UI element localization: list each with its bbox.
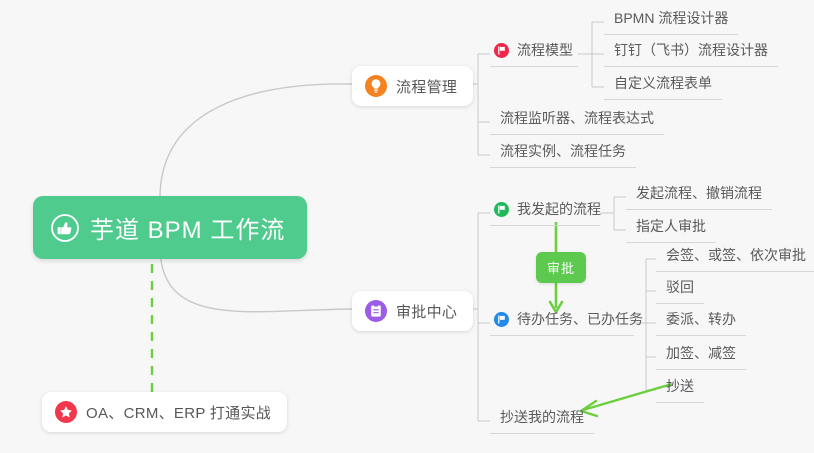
node-delegate-transfer[interactable]: 委派、转办 — [656, 310, 746, 336]
node-countersign[interactable]: 会签、或签、依次审批 — [656, 246, 814, 272]
branch-process-management[interactable]: 流程管理 — [352, 66, 473, 106]
star-icon — [55, 401, 77, 423]
node-process-instance[interactable]: 流程实例、流程任务 — [490, 142, 636, 168]
node-add-remove-sign[interactable]: 加签、减签 — [656, 344, 746, 370]
branch-label: 流程管理 — [396, 76, 457, 97]
node-process-listener[interactable]: 流程监听器、流程表达式 — [490, 109, 664, 135]
node-bpmn-designer[interactable]: BPMN 流程设计器 — [604, 9, 738, 35]
approval-badge: 审批 — [536, 252, 586, 283]
node-custom-form[interactable]: 自定义流程表单 — [604, 74, 722, 100]
node-label: 待办任务、已办任务 — [517, 310, 643, 329]
branch-label: 审批中心 — [396, 301, 457, 322]
node-process-model[interactable]: 流程模型 — [490, 41, 578, 67]
clipboard-icon — [365, 300, 387, 322]
node-my-started-processes[interactable]: 我发起的流程 — [490, 200, 600, 226]
node-label: 我发起的流程 — [517, 200, 601, 219]
lightbulb-icon — [365, 75, 387, 97]
node-todo-done-tasks[interactable]: 待办任务、已办任务 — [490, 310, 634, 336]
thumbs-up-icon — [51, 214, 79, 242]
node-cc-to-me[interactable]: 抄送我的流程 — [490, 408, 594, 434]
node-assignee-approval[interactable]: 指定人审批 — [626, 217, 716, 243]
node-reject[interactable]: 驳回 — [656, 278, 704, 304]
branch-approval-center[interactable]: 审批中心 — [352, 291, 473, 331]
flag-icon — [494, 43, 509, 58]
root-node[interactable]: 芋道 BPM 工作流 — [33, 196, 307, 259]
root-label: 芋道 BPM 工作流 — [90, 210, 285, 245]
footer-node-label: OA、CRM、ERP 打通实战 — [86, 402, 271, 423]
flag-icon — [494, 312, 509, 327]
node-label: 流程模型 — [517, 41, 573, 60]
mindmap-canvas: 芋道 BPM 工作流 流程管理 流程模型 BPMN 流程设计器 钉钉（飞书）流程… — [0, 0, 814, 453]
footer-node-integration[interactable]: OA、CRM、ERP 打通实战 — [42, 392, 287, 432]
node-dingtalk-designer[interactable]: 钉钉（飞书）流程设计器 — [604, 41, 778, 67]
node-carbon-copy[interactable]: 抄送 — [656, 377, 704, 403]
flag-icon — [494, 202, 509, 217]
node-start-cancel-process[interactable]: 发起流程、撤销流程 — [626, 184, 772, 210]
